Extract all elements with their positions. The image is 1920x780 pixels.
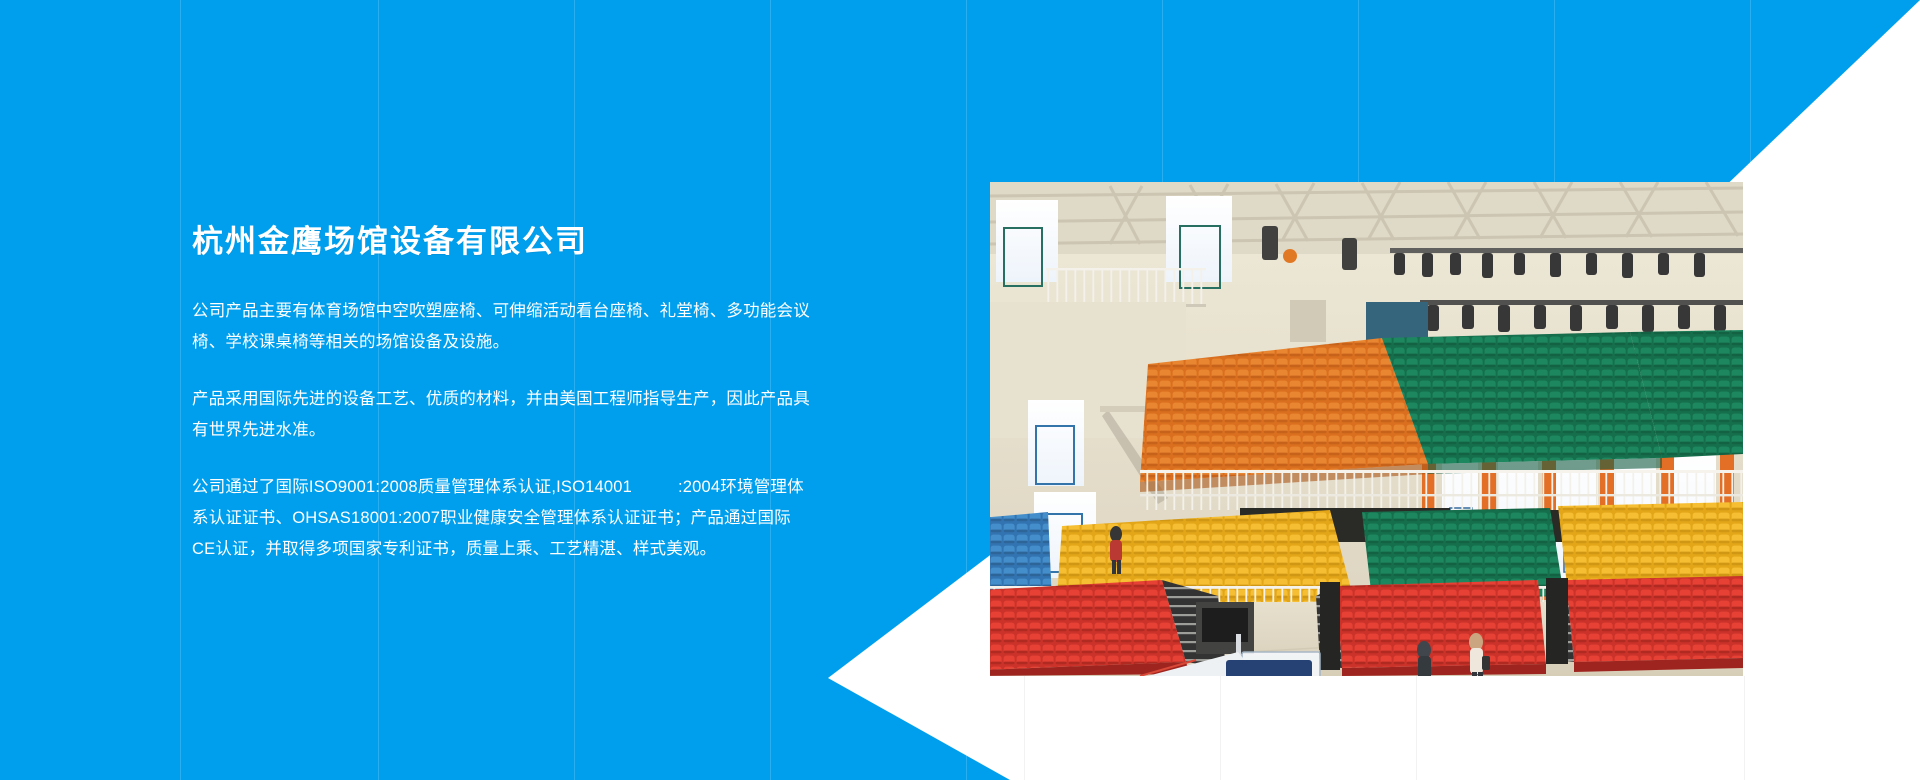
intro-paragraph-products: 公司产品主要有体育场馆中空吹塑座椅、可伸缩活动看台座椅、礼堂椅、多功能会议椅、学… [192,296,812,358]
certification-text-part1: 公司通过了国际ISO9001:2008质量管理体系认证,ISO14001 [192,478,632,496]
company-intro-block: 杭州金鹰场馆设备有限公司 公司产品主要有体育场馆中空吹塑座椅、可伸缩活动看台座椅… [192,222,812,565]
hero-banner: 杭州金鹰场馆设备有限公司 公司产品主要有体育场馆中空吹塑座椅、可伸缩活动看台座椅… [0,0,1920,780]
gymnasium-photo [990,182,1743,676]
company-title: 杭州金鹰场馆设备有限公司 [192,222,812,262]
intro-paragraph-certifications: 公司通过了国际ISO9001:2008质量管理体系认证,ISO14001:200… [192,472,812,565]
background-gridlines-light [0,676,1920,780]
intro-paragraph-quality: 产品采用国际先进的设备工艺、优质的材料，并由美国工程师指导生产，因此产品具有世界… [192,384,812,446]
